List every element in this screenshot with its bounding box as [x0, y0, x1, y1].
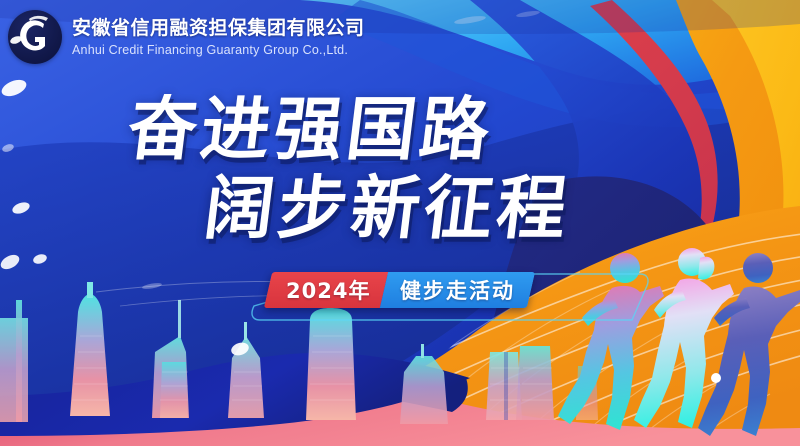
- company-name-en: Anhui Credit Financing Guaranty Group Co…: [72, 44, 365, 57]
- company-logo-g-icon: [8, 10, 62, 64]
- badge-year-label: 2024年: [286, 275, 370, 305]
- event-badge-inner: 2024年 健步走活动: [264, 272, 536, 308]
- brand-text-block: 安徽省信用融资担保集团有限公司 Anhui Credit Financing G…: [72, 17, 365, 57]
- badge-year-segment: 2024年: [264, 272, 389, 308]
- badge-event-label: 健步走活动: [400, 275, 515, 305]
- background-art: [0, 0, 800, 446]
- brand-lockup: 安徽省信用融资担保集团有限公司 Anhui Credit Financing G…: [8, 10, 365, 64]
- promo-banner: 安徽省信用融资担保集团有限公司 Anhui Credit Financing G…: [0, 0, 800, 446]
- company-name-cn: 安徽省信用融资担保集团有限公司: [72, 19, 365, 38]
- event-badge: 2024年 健步走活动: [264, 272, 536, 308]
- badge-event-segment: 健步走活动: [380, 272, 535, 308]
